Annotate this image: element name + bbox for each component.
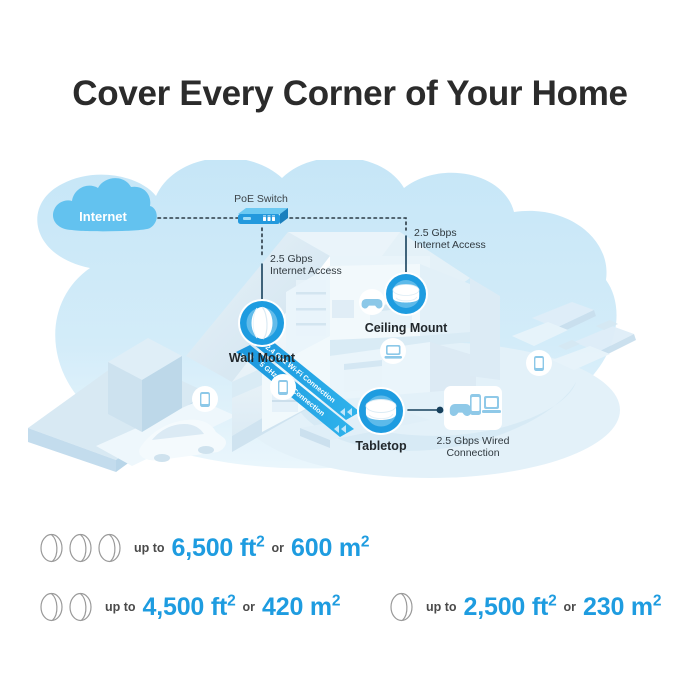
pod-icon bbox=[67, 532, 94, 564]
monitor-icon bbox=[385, 345, 403, 359]
coverage-sqm: 420 m2 bbox=[262, 593, 340, 622]
wired-devices-card bbox=[444, 386, 502, 430]
or-label: or bbox=[243, 600, 256, 614]
pod-icons-2 bbox=[38, 591, 96, 623]
node-ceiling-mount-label: Ceiling Mount bbox=[365, 321, 448, 335]
poe-switch-label: PoE Switch bbox=[234, 193, 288, 205]
sqft-exponent: 2 bbox=[256, 533, 264, 550]
leader-dot-wired bbox=[437, 407, 444, 414]
coverage-sqft: 6,500 ft2 bbox=[172, 534, 265, 563]
node-tabletop[interactable]: Tabletop bbox=[355, 387, 407, 453]
coverage-sqm: 600 m2 bbox=[291, 534, 369, 563]
phone-icon bbox=[200, 392, 210, 407]
pod-icon bbox=[96, 532, 123, 564]
callout-wall-line1: 2.5 Gbps bbox=[270, 253, 313, 265]
sqm-exponent: 2 bbox=[653, 592, 661, 609]
home-coverage-diagram: 2.4 GHz Wi-Fi Connection 5 GHz Wi-Fi Con… bbox=[0, 160, 700, 500]
pod-icons-3 bbox=[38, 532, 125, 564]
coverage-stats: up to 6,500 ft2 or 600 m2 up to 4,500 ft… bbox=[0, 518, 700, 648]
client-badge-phone-pool bbox=[526, 350, 552, 376]
pod-icon bbox=[67, 591, 94, 623]
laptop-icon bbox=[482, 396, 501, 413]
client-badge-monitor bbox=[380, 338, 406, 364]
up-to-label: up to bbox=[426, 600, 457, 614]
phone-icon bbox=[534, 356, 544, 371]
callout-ceiling-line1: 2.5 Gbps bbox=[414, 227, 457, 239]
up-to-label: up to bbox=[134, 541, 165, 555]
callout-ceiling-line2: Internet Access bbox=[414, 239, 486, 251]
up-to-label: up to bbox=[105, 600, 136, 614]
coverage-row-3-pack: up to 6,500 ft2 or 600 m2 bbox=[38, 532, 369, 564]
node-wall-mount-label: Wall Mount bbox=[229, 351, 296, 365]
or-label: or bbox=[564, 600, 577, 614]
pod-icon bbox=[38, 591, 65, 623]
sqft-exponent: 2 bbox=[548, 592, 556, 609]
internet-cloud-label: Internet bbox=[79, 209, 127, 224]
coverage-sqft: 4,500 ft2 bbox=[143, 593, 236, 622]
page-title: Cover Every Corner of Your Home bbox=[0, 74, 700, 114]
coverage-sqm: 230 m2 bbox=[583, 593, 661, 622]
sqm-exponent: 2 bbox=[332, 592, 340, 609]
or-label: or bbox=[272, 541, 285, 555]
callout-wall-line2: Internet Access bbox=[270, 265, 342, 277]
sqm-exponent: 2 bbox=[361, 533, 369, 550]
phone-icon bbox=[278, 380, 288, 395]
callout-wired-line1: 2.5 Gbps Wired bbox=[437, 435, 510, 447]
client-badge-phone-hall bbox=[270, 374, 296, 400]
callout-wired-line2: Connection bbox=[446, 447, 499, 459]
coverage-row-2-pack: up to 4,500 ft2 or 420 m2 bbox=[38, 591, 340, 623]
client-badge-gamepad bbox=[359, 289, 385, 315]
pod-icons-1 bbox=[388, 591, 417, 623]
sqft-exponent: 2 bbox=[227, 592, 235, 609]
node-tabletop-label: Tabletop bbox=[355, 439, 407, 453]
callout-tabletop-wired: 2.5 Gbps Wired Connection bbox=[437, 435, 510, 459]
phone-icon bbox=[470, 394, 481, 415]
client-badge-phone-garage bbox=[192, 386, 218, 412]
pod-icon bbox=[388, 591, 415, 623]
pod-icon bbox=[38, 532, 65, 564]
coverage-sqft: 2,500 ft2 bbox=[464, 593, 557, 622]
coverage-row-1-pack: up to 2,500 ft2 or 230 m2 bbox=[388, 591, 661, 623]
